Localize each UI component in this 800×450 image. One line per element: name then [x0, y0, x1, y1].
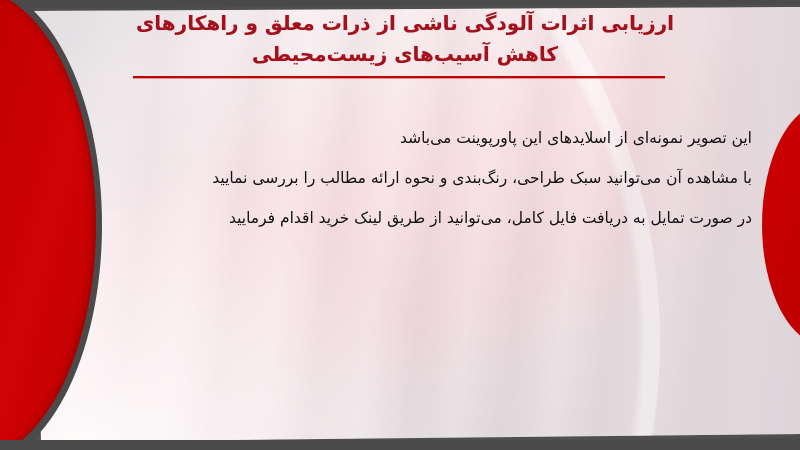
presentation-slide: ارزیابی اثرات آلودگی ناشی از ذرات معلق و… — [0, 0, 800, 450]
slide-title-line-2: کاهش آسیب‌های زیست‌محیطی — [60, 39, 750, 70]
slide-title: ارزیابی اثرات آلودگی ناشی از ذرات معلق و… — [60, 8, 750, 70]
content-panel: ارزیابی اثرات آلودگی ناشی از ذرات معلق و… — [0, 0, 800, 450]
slide-body: این تصویر نمونه‌ای از اسلایدهای این پاور… — [52, 118, 752, 238]
slide-title-line-1: ارزیابی اثرات آلودگی ناشی از ذرات معلق و… — [60, 8, 750, 39]
slide-bottom-strip — [0, 440, 800, 450]
title-underline-shadow — [133, 78, 665, 79]
slide-body-line-2: با مشاهده آن می‌توانید سبک طراحی، رنگ‌بن… — [52, 158, 752, 198]
slide-body-line-3: در صورت تمایل به دریافت فایل کامل، می‌تو… — [52, 198, 752, 238]
slide-body-line-1: این تصویر نمونه‌ای از اسلایدهای این پاور… — [52, 118, 752, 158]
